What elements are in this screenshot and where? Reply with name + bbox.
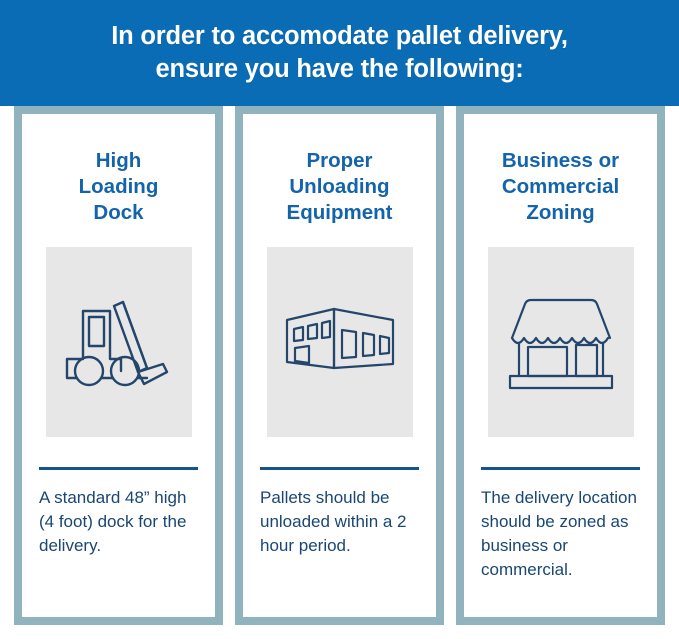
card-title-line-2: Unloading (287, 174, 393, 200)
card-title: High Loading Dock (79, 148, 159, 227)
card-caption: The delivery location should be zoned as… (481, 486, 640, 583)
card-title-line-1: Business or (502, 148, 619, 174)
card-title-line-3: Equipment (287, 200, 393, 226)
card-title: Business or Commercial Zoning (502, 148, 619, 227)
card-caption: A standard 48” high (4 foot) dock for th… (39, 486, 198, 558)
card-proper-unloading-equipment: Proper Unloading Equipment (235, 106, 444, 625)
card-title-line-2: Commercial (502, 174, 619, 200)
card-title-line-3: Dock (79, 200, 159, 226)
right-spacer (665, 106, 679, 639)
card-title-line-3: Zoning (502, 200, 619, 226)
forklift-icon (61, 286, 177, 398)
card-title: Proper Unloading Equipment (287, 148, 393, 227)
icon-tile (46, 247, 192, 437)
card-divider (481, 467, 640, 470)
header-title-line-2: ensure you have the following: (155, 53, 523, 86)
card-inner: Proper Unloading Equipment (243, 114, 436, 617)
card-inner: High Loading Dock (22, 114, 215, 617)
card-title-line-2: Loading (79, 174, 159, 200)
warehouse-building-icon (282, 302, 398, 382)
icon-tile (488, 247, 634, 437)
column-gap-1 (223, 106, 235, 639)
left-spacer (0, 106, 14, 639)
icon-tile (267, 247, 413, 437)
card-high-loading-dock: High Loading Dock (14, 106, 223, 625)
card-business-commercial-zoning: Business or Commercial Zoning (456, 106, 665, 625)
infographic-root: In order to accomodate pallet delivery, … (0, 0, 679, 639)
card-caption: Pallets should be unloaded within a 2 ho… (260, 486, 419, 558)
card-title-line-1: Proper (287, 148, 393, 174)
card-divider (39, 467, 198, 470)
column-gap-2 (444, 106, 456, 639)
cards-row: High Loading Dock (0, 106, 679, 639)
header-banner: In order to accomodate pallet delivery, … (0, 0, 679, 106)
card-title-line-1: High (79, 148, 159, 174)
header-title-line-1: In order to accomodate pallet delivery, (111, 20, 568, 53)
storefront-icon (503, 290, 619, 394)
card-inner: Business or Commercial Zoning (464, 114, 657, 617)
card-divider (260, 467, 419, 470)
